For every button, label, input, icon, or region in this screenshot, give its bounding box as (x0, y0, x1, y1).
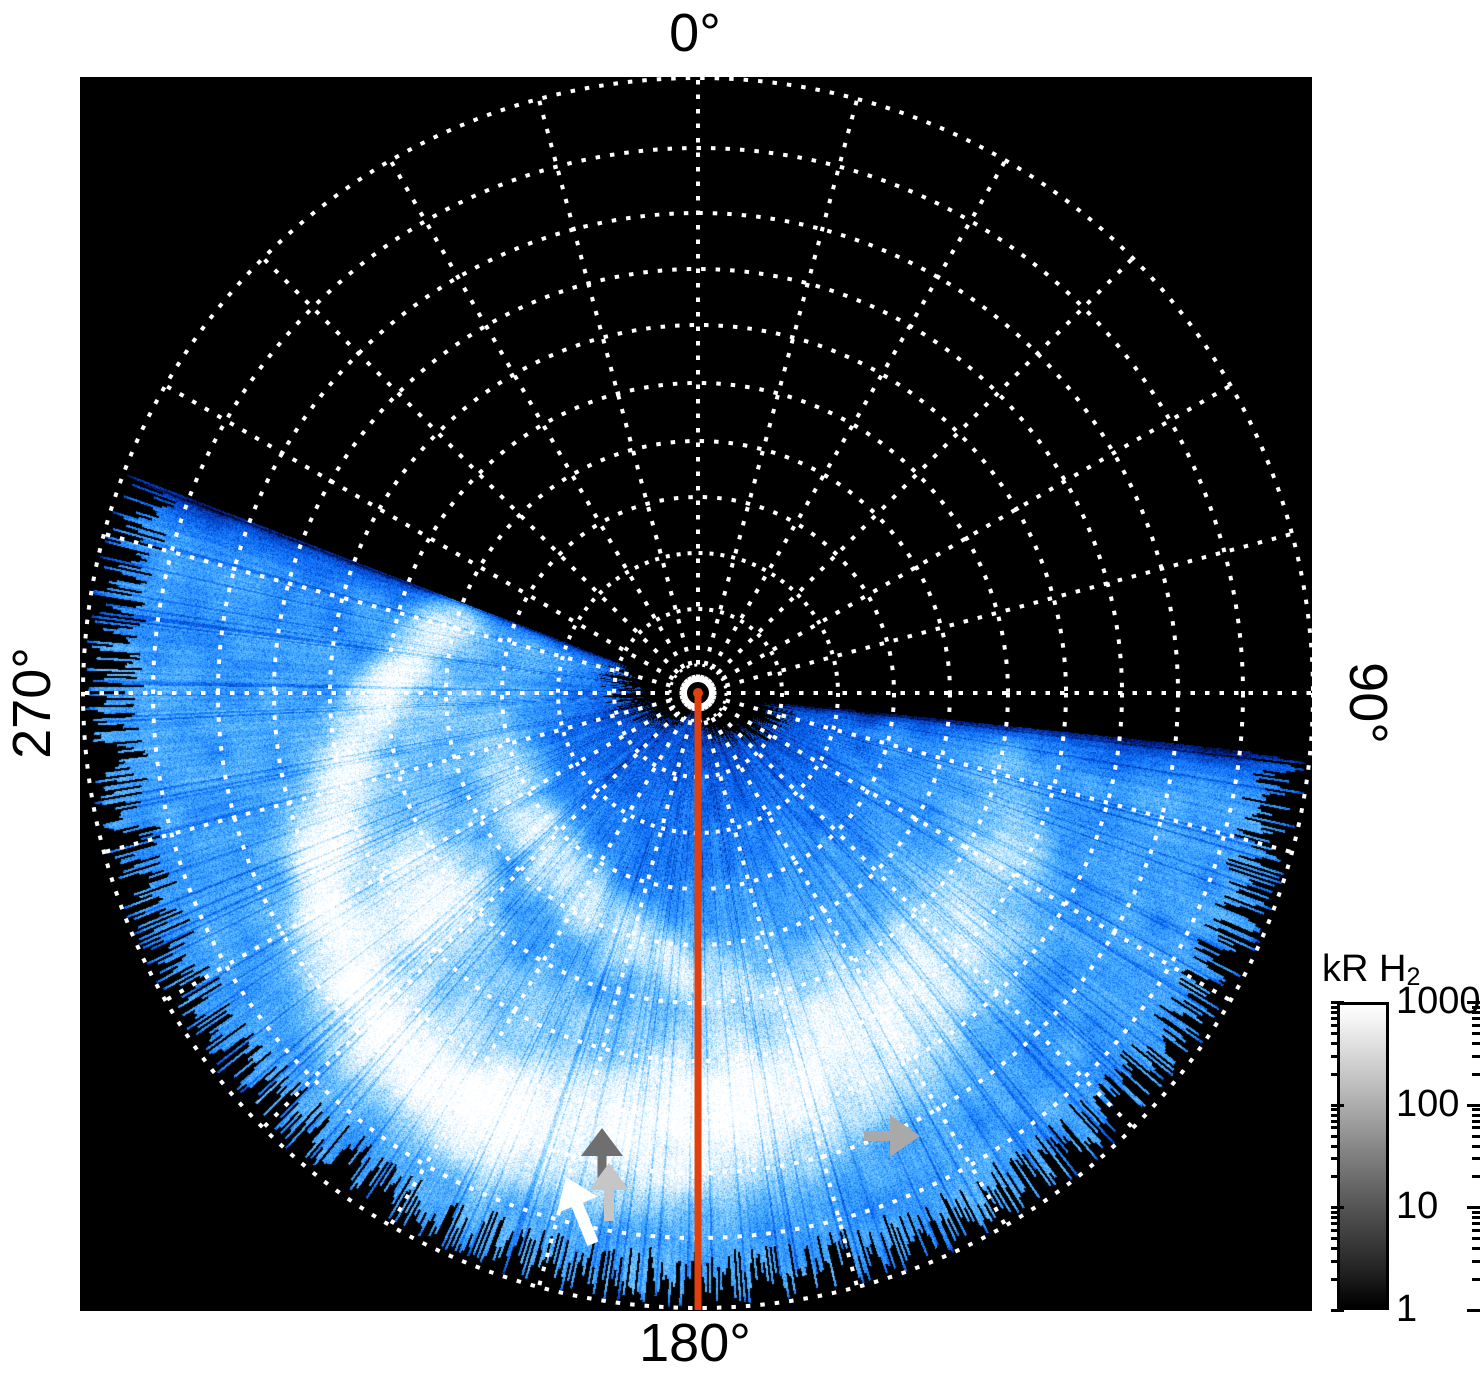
colorbar-tick (1331, 1175, 1339, 1178)
colorbar-tick (1472, 1175, 1480, 1178)
colorbar-tick (1472, 1120, 1480, 1123)
colorbar-tick (1331, 1157, 1339, 1160)
polar-grid-overlay (80, 77, 1312, 1311)
grid-spoke (391, 160, 692, 680)
colorbar-tick (1331, 1006, 1339, 1009)
colorbar-tick (1472, 1126, 1480, 1129)
grid-spoke (708, 258, 1133, 683)
colorbar-tick (1331, 1309, 1344, 1312)
grid-spoke (702, 99, 858, 680)
grid-spoke (705, 160, 1006, 680)
grid-spoke (702, 707, 858, 1288)
colorbar-tick-label: 1 (1396, 1290, 1417, 1328)
grid-spoke (710, 386, 1230, 687)
colorbar-tick-label: 100 (1396, 1085, 1459, 1123)
figure-root: 0° 180° 270° 90° kR H2 1000100101 (0, 0, 1481, 1386)
colorbar-tick (1472, 1042, 1480, 1045)
colorbar-tick-label: 10 (1396, 1187, 1438, 1225)
annotation-arrow-light-gray (589, 1163, 629, 1221)
grid-spoke (263, 258, 688, 683)
colorbar-tick (1472, 1216, 1480, 1219)
colorbar-tick (1331, 1135, 1339, 1138)
colorbar-tick (1467, 1104, 1480, 1107)
colorbar-tick (1472, 1278, 1480, 1281)
colorbar-tick (1331, 1222, 1339, 1225)
colorbar-tick (1472, 1032, 1480, 1035)
colorbar-tick (1467, 1309, 1480, 1312)
colorbar-tick (1472, 1211, 1480, 1214)
annotation-arrow-gray-right (864, 1115, 920, 1157)
colorbar-tick (1331, 1032, 1339, 1035)
colorbar-tick (1331, 1229, 1339, 1232)
colorbar-tick (1331, 1104, 1344, 1107)
colorbar-tick (1331, 1247, 1339, 1250)
colorbar-tick (1331, 1108, 1339, 1111)
colorbar-tick (1331, 1260, 1339, 1263)
colorbar-tick (1331, 1055, 1339, 1058)
colorbar-tick (1331, 1011, 1339, 1014)
colorbar: kR H2 1000100101 (1330, 948, 1481, 1348)
colorbar-tick (1331, 1042, 1339, 1045)
colorbar-tick-label: 1000 (1396, 982, 1481, 1020)
grid-spoke (104, 697, 685, 853)
colorbar-tick (1472, 1222, 1480, 1225)
colorbar-tick (1472, 1229, 1480, 1232)
grid-spoke (712, 697, 1293, 853)
colorbar-tick (1331, 1073, 1339, 1076)
colorbar-tick (1331, 1126, 1339, 1129)
colorbar-tick (1472, 1135, 1480, 1138)
colorbar-tick (1472, 1108, 1480, 1111)
grid-spoke (263, 703, 688, 1128)
axis-label-90deg: 90° (1341, 623, 1395, 783)
axis-label-0deg: 0° (0, 6, 1390, 60)
colorbar-tick (1331, 1206, 1344, 1209)
annotation-arrow-dark-gray (581, 1128, 623, 1180)
colorbar-tick (1472, 1114, 1480, 1117)
colorbar-tick (1331, 1017, 1339, 1020)
grid-spoke (708, 703, 1133, 1128)
annotation-arrow-dark-gray-shape (581, 1128, 623, 1180)
colorbar-tick (1472, 1024, 1480, 1027)
axis-label-270deg: 270° (5, 623, 59, 783)
colorbar-tick (1331, 1120, 1339, 1123)
colorbar-tick (1472, 1157, 1480, 1160)
colorbar-gradient (1337, 1002, 1389, 1310)
colorbar-tick (1331, 1145, 1339, 1148)
colorbar-tick (1331, 1114, 1339, 1117)
colorbar-tick (1472, 1247, 1480, 1250)
colorbar-tick (1472, 1073, 1480, 1076)
annotation-arrow-light-gray-shape (589, 1163, 629, 1221)
grid-spoke (712, 534, 1293, 690)
colorbar-tick (1472, 1237, 1480, 1240)
colorbar-tick (1331, 1024, 1339, 1027)
axis-label-180deg: 180° (0, 1316, 1390, 1370)
colorbar-tick (1472, 1145, 1480, 1148)
polar-plot-panel (80, 77, 1312, 1311)
meridian-origin-dot (693, 688, 703, 698)
colorbar-tick (1467, 1206, 1480, 1209)
grid-spoke (705, 705, 1006, 1225)
colorbar-tick (1472, 1260, 1480, 1263)
colorbar-tick (1472, 1055, 1480, 1058)
grid-spoke (104, 534, 685, 690)
colorbar-tick (1331, 1278, 1339, 1281)
annotation-arrow-gray-right-shape (864, 1115, 920, 1157)
colorbar-tick (1331, 1211, 1339, 1214)
grid-spoke (539, 99, 695, 680)
colorbar-tick (1331, 1237, 1339, 1240)
colorbar-tick (1331, 1001, 1344, 1004)
colorbar-tick (1331, 1216, 1339, 1219)
colorbar-title-main: kR H (1322, 948, 1406, 990)
grid-spoke (165, 700, 685, 1001)
